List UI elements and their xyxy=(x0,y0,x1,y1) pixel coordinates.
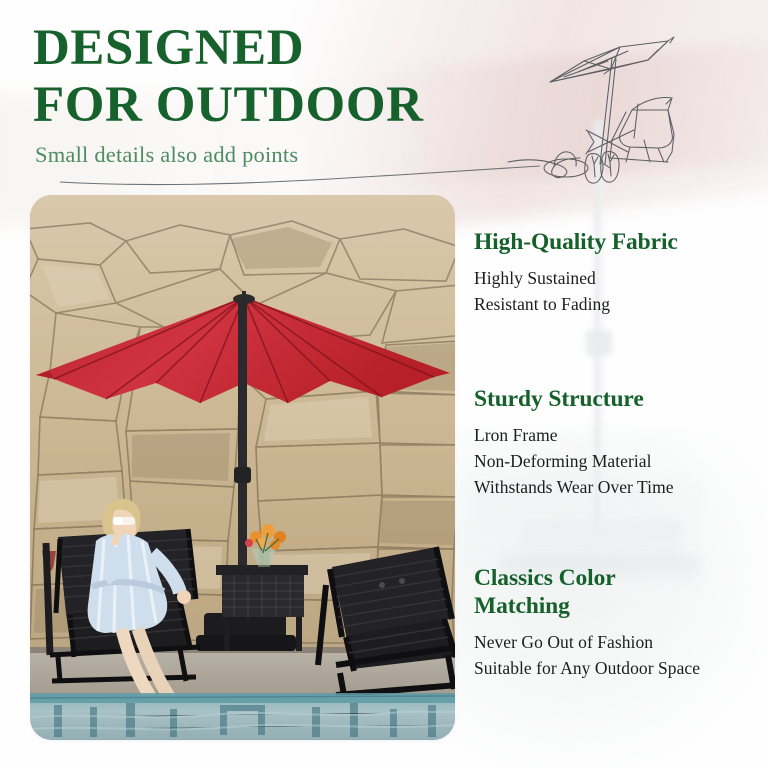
spacer xyxy=(474,500,756,564)
feature-line: Highly Sustained xyxy=(474,265,756,291)
feature-lines: Lron Frame Non-Deforming Material Withst… xyxy=(474,422,756,500)
feature-item-color: Classics Color Matching Never Go Out of … xyxy=(474,564,756,681)
spacer xyxy=(474,317,756,385)
deck-chair-icon xyxy=(586,98,674,163)
feature-line: Resistant to Fading xyxy=(474,291,756,317)
product-photo xyxy=(30,195,455,740)
flip-flops-icon xyxy=(585,152,619,183)
ground-sweep-line xyxy=(60,160,540,190)
feature-list: High-Quality Fabric Highly Sustained Res… xyxy=(474,228,756,681)
feature-line: Withstands Wear Over Time xyxy=(474,474,756,500)
page-title: DESIGNED FOR OUTDOOR xyxy=(33,20,503,134)
feature-item-structure: Sturdy Structure Lron Frame Non-Deformin… xyxy=(474,385,756,500)
feature-title: Classics Color Matching xyxy=(474,564,756,620)
feature-item-fabric: High-Quality Fabric Highly Sustained Res… xyxy=(474,228,756,317)
marketing-page: DESIGNED FOR OUTDOOR Small details also … xyxy=(0,0,768,768)
feature-title: High-Quality Fabric xyxy=(474,228,756,256)
feature-lines: Highly Sustained Resistant to Fading xyxy=(474,265,756,317)
feature-line: Non-Deforming Material xyxy=(474,448,756,474)
feature-lines: Never Go Out of Fashion Suitable for Any… xyxy=(474,629,756,681)
feature-line: Never Go Out of Fashion xyxy=(474,629,756,655)
feature-line: Suitable for Any Outdoor Space xyxy=(474,655,756,681)
feature-line: Lron Frame xyxy=(474,422,756,448)
beach-scene-illustration xyxy=(508,12,768,212)
feature-title: Sturdy Structure xyxy=(474,385,756,413)
